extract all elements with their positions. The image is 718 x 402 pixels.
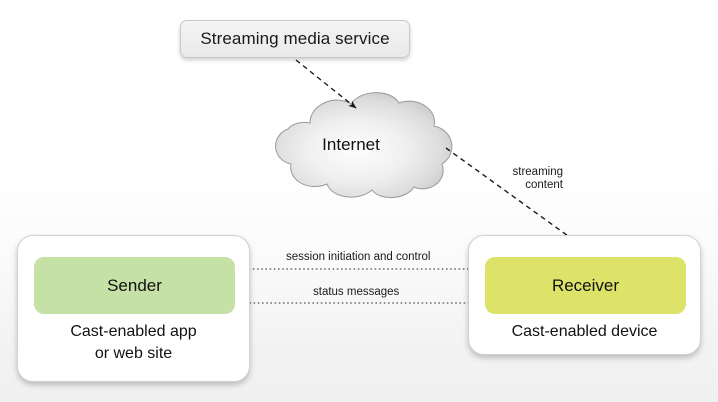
sender-role-label: Sender — [107, 276, 162, 296]
sender-caption-line-2: or web site — [18, 343, 249, 365]
cloud-shape — [276, 93, 452, 198]
sender-caption-line-1: Cast-enabled app — [18, 321, 249, 343]
diagram-canvas: Streaming media service Internet — [0, 0, 718, 402]
receiver-role-chip: Receiver — [485, 257, 686, 314]
node-internet-cloud: Internet — [248, 88, 460, 202]
streaming-media-service-label: Streaming media service — [200, 29, 389, 49]
node-receiver-container: Receiver Cast-enabled device — [468, 235, 701, 355]
edge-label-status-messages: status messages — [313, 286, 399, 299]
node-streaming-media-service: Streaming media service — [180, 20, 410, 58]
receiver-caption-line-1: Cast-enabled device — [469, 321, 700, 343]
edge-label-streaming-content: streaming content — [497, 166, 563, 192]
streaming-content-line-1: streaming — [497, 166, 563, 179]
receiver-role-label: Receiver — [552, 276, 619, 296]
sender-caption: Cast-enabled app or web site — [18, 321, 249, 365]
edge-label-session-initiation: session initiation and control — [286, 251, 430, 264]
receiver-caption: Cast-enabled device — [469, 321, 700, 343]
streaming-content-line-2: content — [497, 179, 563, 192]
sender-role-chip: Sender — [34, 257, 235, 314]
node-sender-container: Sender Cast-enabled app or web site — [17, 235, 250, 382]
